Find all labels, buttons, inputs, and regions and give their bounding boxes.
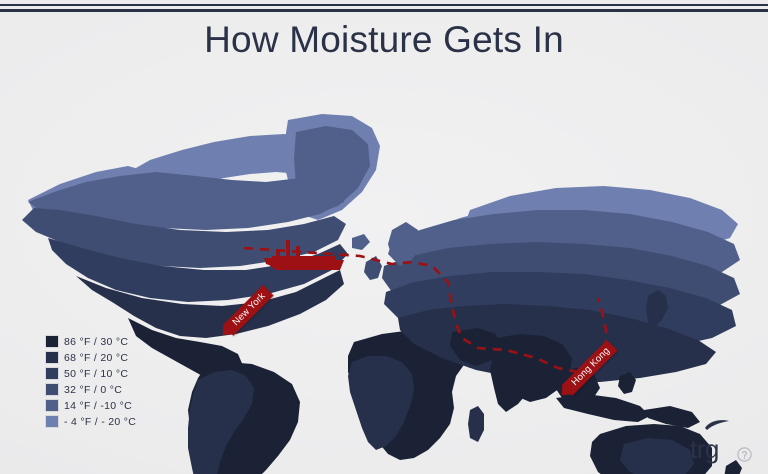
legend-label: 14 °F / -10 °C xyxy=(64,400,132,412)
logo-wordmark: trg xyxy=(690,436,719,462)
legend-row: - 4 °F / - 20 °C xyxy=(45,414,136,429)
page-title: How Moisture Gets In xyxy=(0,19,768,61)
legend-label: 68 °F / 20 °C xyxy=(64,352,128,364)
legend-row: 50 °F / 10 °C xyxy=(45,366,136,381)
legend-swatch xyxy=(45,399,59,412)
legend-swatch xyxy=(45,335,59,348)
legend-row: 86 °F / 30 °C xyxy=(45,334,136,349)
na-greenland2 xyxy=(294,126,370,214)
trg-logo: trg xyxy=(690,420,754,464)
logo-swoosh-icon xyxy=(704,419,730,431)
header-rule-bottom xyxy=(0,9,768,12)
legend-swatch xyxy=(45,351,59,364)
af-madagascar xyxy=(468,406,484,442)
legend-row: 68 °F / 20 °C xyxy=(45,350,136,365)
legend-label: 32 °F / 0 °C xyxy=(64,384,122,396)
legend-row: 14 °F / -10 °C xyxy=(45,398,136,413)
infographic-page: How Moisture Gets In xyxy=(0,0,768,474)
continent-south-america xyxy=(188,362,300,474)
legend-swatch xyxy=(45,415,59,428)
logo-circle-icon xyxy=(737,447,752,462)
oc-indonesia xyxy=(556,394,650,422)
legend-swatch xyxy=(45,383,59,396)
legend-label: 86 °F / 30 °C xyxy=(64,336,128,348)
legend-label: - 4 °F / - 20 °C xyxy=(64,416,136,428)
eu-iceland xyxy=(352,234,370,250)
as-india xyxy=(490,348,536,412)
temperature-legend: 86 °F / 30 °C 68 °F / 20 °C 50 °F / 10 °… xyxy=(45,334,136,430)
header-rule-top xyxy=(0,4,768,6)
legend-swatch xyxy=(45,367,59,380)
legend-row: 32 °F / 0 °C xyxy=(45,382,136,397)
legend-label: 50 °F / 10 °C xyxy=(64,368,128,380)
